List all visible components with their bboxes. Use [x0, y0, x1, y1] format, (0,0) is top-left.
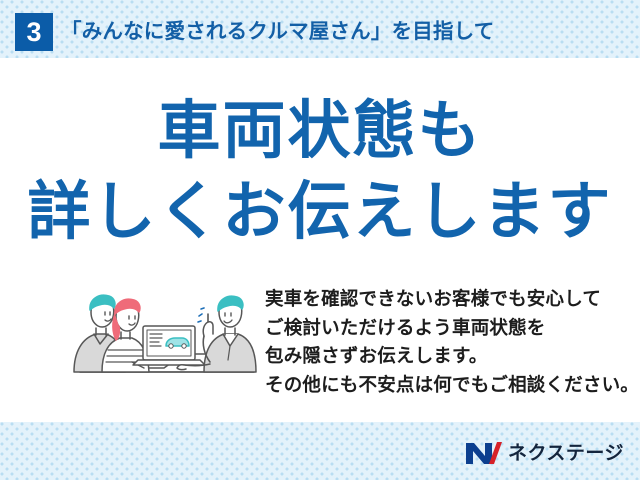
illustration-svg: [58, 276, 258, 394]
sales-consultation-illustration: [58, 276, 258, 394]
headline-line-1: 車両状態も: [0, 96, 640, 167]
body-copy-line-1: 実車を確認できないお客様でも安心して: [265, 285, 625, 314]
section-number-badge: 3: [15, 13, 53, 51]
brand-logo: ネクステージ: [464, 438, 624, 468]
promo-banner: 3 「みんなに愛されるクルマ屋さん」を目指して 車両状態も 詳しくお伝えします: [0, 0, 640, 480]
headline: 車両状態も 詳しくお伝えします: [0, 96, 640, 247]
header-title: 「みんなに愛されるクルマ屋さん」を目指して: [61, 13, 494, 51]
headline-line-2: 詳しくお伝えします: [0, 177, 640, 248]
body-copy: 実車を確認できないお客様でも安心して ご検討いただけるよう車両状態を 包み隠さず…: [265, 285, 625, 400]
body-copy-line-2: ご検討いただけるよう車両状態を: [265, 314, 625, 343]
body-copy-line-4: その他にも不安点は何でもご相談ください。: [265, 371, 625, 400]
brand-wordmark: ネクステージ: [508, 444, 624, 463]
body-copy-line-3: 包み隠さずお伝えします。: [265, 342, 625, 371]
nextage-n-logo-icon: [464, 439, 502, 467]
